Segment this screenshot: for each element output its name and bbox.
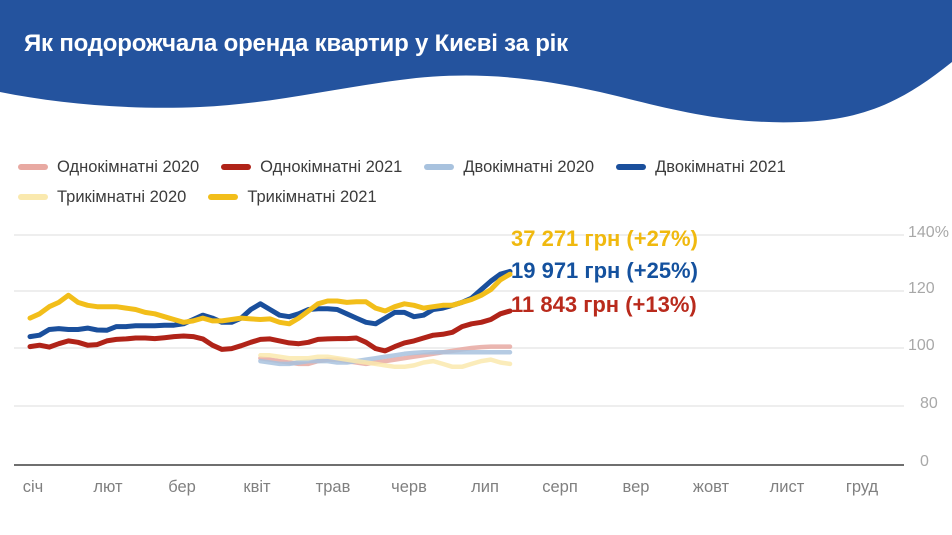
legend-label: Трикімнатні 2020 bbox=[57, 188, 186, 207]
annotation-3room: 37 271 грн (+27%) bbox=[511, 226, 698, 252]
x-axis-labels: січлютберквіттравчервлипсерпвержовтлистг… bbox=[0, 478, 952, 508]
x-tick-label: груд bbox=[846, 478, 878, 497]
x-axis-line bbox=[14, 464, 904, 466]
y-tick-label: 140% bbox=[908, 224, 952, 242]
annotation-1room: 11 843 грн (+13%) bbox=[511, 292, 697, 318]
legend-2room-2020[interactable]: Двокімнатні 2020 bbox=[424, 158, 594, 177]
legend-1room-2020[interactable]: Однокімнатні 2020 bbox=[18, 158, 199, 177]
x-tick-label: жовт bbox=[693, 478, 729, 497]
chart-lines-svg bbox=[0, 215, 952, 475]
legend-row-2: Трикімнатні 2020 Трикімнатні 2021 bbox=[18, 182, 918, 212]
x-tick-label: серп bbox=[542, 478, 578, 497]
legend-3room-2021[interactable]: Трикімнатні 2021 bbox=[208, 188, 376, 207]
x-tick-label: лют bbox=[93, 478, 122, 497]
legend-label: Однокімнатні 2021 bbox=[260, 158, 402, 177]
chart-plot-area bbox=[0, 215, 952, 475]
x-tick-label: січ bbox=[23, 478, 44, 497]
x-tick-label: лист bbox=[770, 478, 805, 497]
legend-row-1: Однокімнатні 2020 Однокімнатні 2021 Двок… bbox=[18, 152, 918, 182]
legend-swatch-icon bbox=[18, 164, 48, 170]
legend-1room-2021[interactable]: Однокімнатні 2021 bbox=[221, 158, 402, 177]
legend-swatch-icon bbox=[616, 164, 646, 170]
legend-swatch-icon bbox=[208, 194, 238, 200]
legend-swatch-icon bbox=[424, 164, 454, 170]
x-tick-label: квіт bbox=[243, 478, 270, 497]
legend-3room-2020[interactable]: Трикімнатні 2020 bbox=[18, 188, 186, 207]
infographic-root: Як подорожчала оренда квартир у Києві за… bbox=[0, 0, 952, 535]
legend-swatch-icon bbox=[221, 164, 251, 170]
x-axis bbox=[0, 464, 952, 466]
chart-series-group bbox=[30, 271, 510, 366]
y-tick-label: 0 bbox=[920, 453, 952, 471]
annotation-2room: 19 971 грн (+25%) bbox=[511, 258, 698, 284]
legend-swatch-icon bbox=[18, 194, 48, 200]
chart-legend: Однокімнатні 2020 Однокімнатні 2021 Двок… bbox=[18, 152, 918, 212]
page-title: Як подорожчала оренда квартир у Києві за… bbox=[24, 30, 568, 58]
header-banner: Як подорожчала оренда квартир у Києві за… bbox=[0, 0, 952, 135]
series-line bbox=[30, 274, 510, 324]
y-tick-label: 80 bbox=[920, 395, 952, 413]
legend-label: Двокімнатні 2021 bbox=[655, 158, 786, 177]
y-tick-label: 100 bbox=[908, 337, 952, 355]
x-tick-label: трав bbox=[316, 478, 351, 497]
legend-label: Трикімнатні 2021 bbox=[247, 188, 376, 207]
x-tick-label: черв bbox=[391, 478, 427, 497]
header-wave-shape bbox=[0, 0, 952, 135]
x-tick-label: вер bbox=[623, 478, 650, 497]
x-tick-label: лип bbox=[471, 478, 499, 497]
x-tick-label: бер bbox=[168, 478, 196, 497]
y-tick-label: 120 bbox=[908, 280, 952, 298]
legend-2room-2021[interactable]: Двокімнатні 2021 bbox=[616, 158, 786, 177]
legend-label: Однокімнатні 2020 bbox=[57, 158, 199, 177]
legend-label: Двокімнатні 2020 bbox=[463, 158, 594, 177]
